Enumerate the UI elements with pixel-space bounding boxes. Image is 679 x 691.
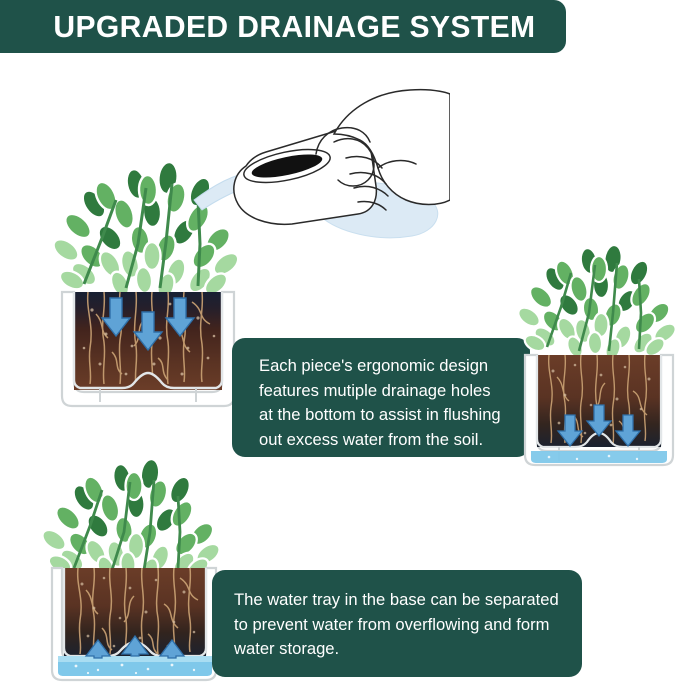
planter-bottom-left	[36, 458, 232, 688]
page-title: UPGRADED DRAINAGE SYSTEM	[0, 9, 535, 45]
planter-right	[513, 243, 679, 475]
callout-text: The water tray in the base can be separa…	[234, 588, 582, 662]
header-banner: UPGRADED DRAINAGE SYSTEM	[0, 0, 566, 53]
infographic-canvas: UPGRADED DRAINAGE SYSTEM	[0, 0, 679, 691]
callout-water-tray: The water tray in the base can be separa…	[212, 570, 582, 677]
callout-text: Each piece's ergonomic design features m…	[259, 354, 530, 452]
tray-water	[58, 656, 212, 676]
tray-water	[531, 451, 667, 463]
foliage	[39, 458, 223, 584]
callout-drainage-holes: Each piece's ergonomic design features m…	[232, 338, 530, 457]
watering-can-illustration	[120, 82, 450, 277]
foliage	[515, 244, 679, 362]
